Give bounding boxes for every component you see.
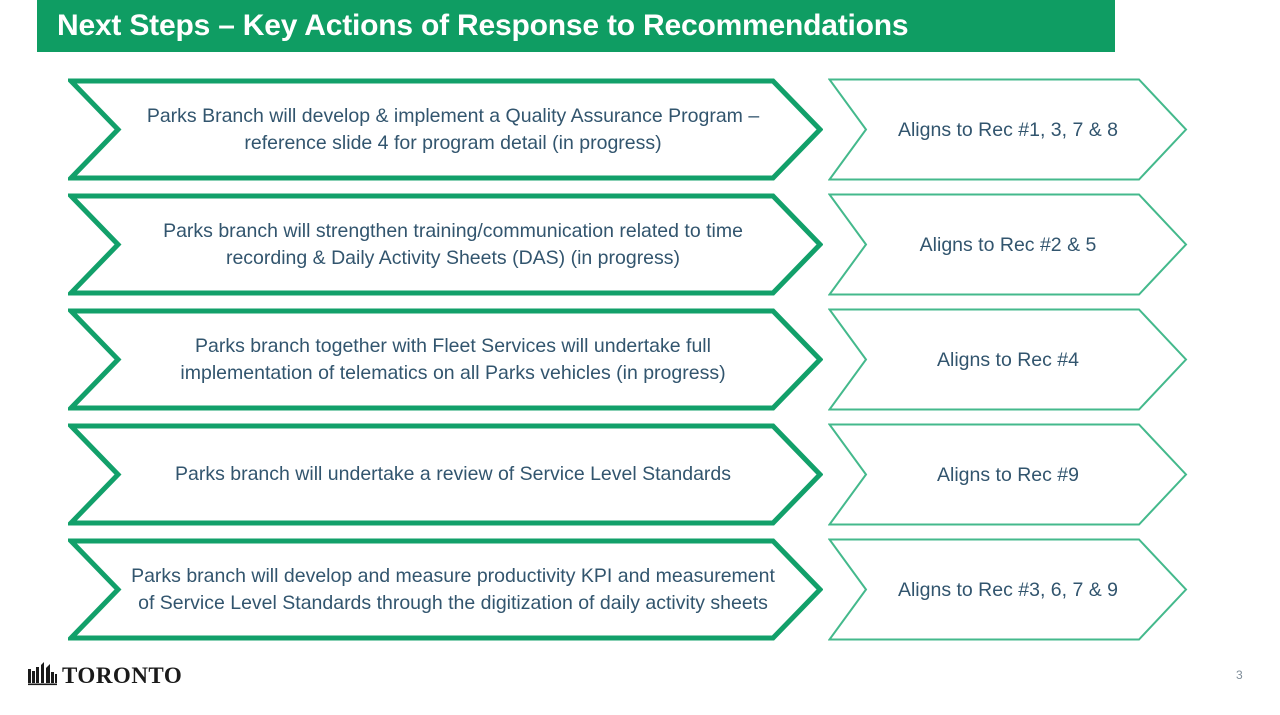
- slide-title-bar: Next Steps – Key Actions of Response to …: [37, 0, 1115, 52]
- next-steps-list: Parks Branch will develop & implement a …: [0, 78, 1280, 653]
- alignment-chevron-3[interactable]: Aligns to Rec #4: [828, 308, 1188, 411]
- alignment-text: Aligns to Rec #4: [872, 308, 1144, 411]
- action-chevron-3[interactable]: Parks branch together with Fleet Service…: [68, 308, 823, 411]
- action-text: Parks branch together with Fleet Service…: [128, 308, 778, 411]
- action-chevron-2[interactable]: Parks branch will strengthen training/co…: [68, 193, 823, 296]
- action-chevron-5[interactable]: Parks branch will develop and measure pr…: [68, 538, 823, 641]
- page-title: Next Steps – Key Actions of Response to …: [57, 11, 908, 41]
- alignment-text: Aligns to Rec #2 & 5: [872, 193, 1144, 296]
- alignment-text: Aligns to Rec #3, 6, 7 & 9: [872, 538, 1144, 641]
- alignment-text: Aligns to Rec #9: [872, 423, 1144, 526]
- logo-wordmark: Toronto: [62, 665, 182, 686]
- alignment-chevron-2[interactable]: Aligns to Rec #2 & 5: [828, 193, 1188, 296]
- action-chevron-4[interactable]: Parks branch will undertake a review of …: [68, 423, 823, 526]
- toronto-logo: Toronto: [28, 662, 182, 686]
- toronto-buildings-icon: [28, 662, 58, 686]
- action-text: Parks Branch will develop & implement a …: [128, 78, 778, 181]
- list-item: Parks branch together with Fleet Service…: [0, 308, 1280, 411]
- action-text: Parks branch will develop and measure pr…: [128, 538, 778, 641]
- list-item: Parks branch will develop and measure pr…: [0, 538, 1280, 641]
- alignment-chevron-5[interactable]: Aligns to Rec #3, 6, 7 & 9: [828, 538, 1188, 641]
- alignment-chevron-4[interactable]: Aligns to Rec #9: [828, 423, 1188, 526]
- action-text: Parks branch will undertake a review of …: [128, 423, 778, 526]
- page-number: 3: [1236, 668, 1243, 682]
- action-text: Parks branch will strengthen training/co…: [128, 193, 778, 296]
- alignment-text: Aligns to Rec #1, 3, 7 & 8: [872, 78, 1144, 181]
- list-item: Parks branch will undertake a review of …: [0, 423, 1280, 526]
- alignment-chevron-1[interactable]: Aligns to Rec #1, 3, 7 & 8: [828, 78, 1188, 181]
- action-chevron-1[interactable]: Parks Branch will develop & implement a …: [68, 78, 823, 181]
- list-item: Parks Branch will develop & implement a …: [0, 78, 1280, 181]
- list-item: Parks branch will strengthen training/co…: [0, 193, 1280, 296]
